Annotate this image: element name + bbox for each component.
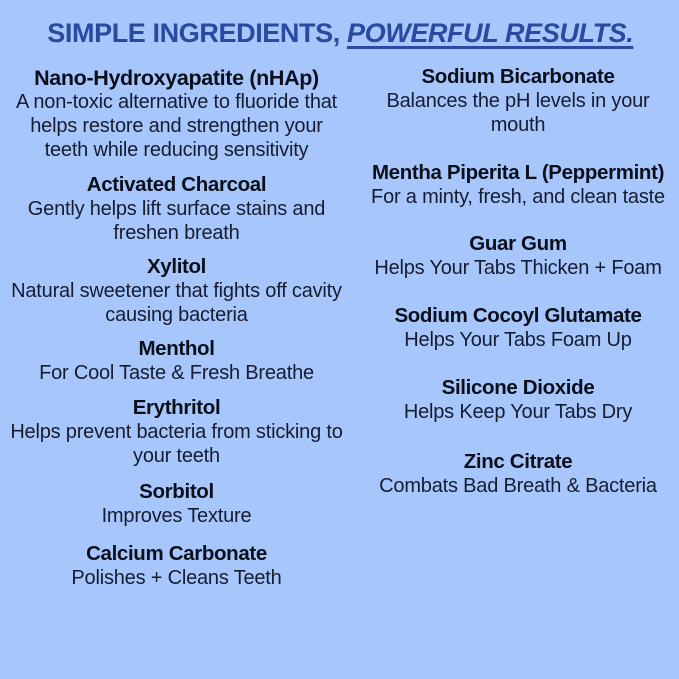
ingredient-item: Silicone Dioxide Helps Keep Your Tabs Dr… — [363, 377, 673, 425]
ingredient-description: Improves Texture — [6, 505, 347, 529]
ingredient-description: For Cool Taste & Fresh Breathe — [6, 362, 347, 386]
ingredient-description: Polishes + Cleans Teeth — [6, 567, 347, 591]
ingredient-item: Menthol For Cool Taste & Fresh Breathe — [6, 338, 347, 386]
ingredient-item: Sorbitol Improves Texture — [6, 481, 347, 529]
page-title-emphasis: POWERFUL RESULTS. — [347, 18, 633, 48]
ingredients-column-right: Sodium Bicarbonate Balances the pH level… — [355, 66, 679, 679]
ingredients-columns: Nano-Hydroxyapatite (nHAp) A non-toxic a… — [0, 66, 679, 679]
page-title-plain: SIMPLE INGREDIENTS, — [47, 18, 347, 48]
ingredient-description: Helps prevent bacteria from sticking to … — [6, 421, 347, 469]
ingredient-item: Zinc Citrate Combats Bad Breath & Bacter… — [363, 451, 673, 499]
ingredients-column-left: Nano-Hydroxyapatite (nHAp) A non-toxic a… — [0, 66, 355, 679]
ingredient-description: Combats Bad Breath & Bacteria — [363, 475, 673, 499]
ingredient-name: Sorbitol — [6, 481, 347, 504]
ingredient-description: Balances the pH levels in your mouth — [363, 90, 673, 138]
ingredient-item: Mentha Piperita L (Peppermint) For a min… — [363, 162, 673, 210]
ingredient-name: Xylitol — [6, 256, 347, 279]
ingredient-item: Xylitol Natural sweetener that fights of… — [6, 256, 347, 328]
ingredient-description: Helps Your Tabs Foam Up — [363, 329, 673, 353]
ingredient-name: Calcium Carbonate — [6, 543, 347, 566]
ingredient-name: Mentha Piperita L (Peppermint) — [363, 162, 673, 185]
ingredient-name: Zinc Citrate — [363, 451, 673, 474]
ingredient-name: Erythritol — [6, 397, 347, 420]
ingredient-item: Activated Charcoal Gently helps lift sur… — [6, 174, 347, 246]
ingredient-item: Sodium Bicarbonate Balances the pH level… — [363, 66, 673, 138]
ingredient-description: Helps Your Tabs Thicken + Foam — [363, 257, 673, 281]
ingredient-name: Nano-Hydroxyapatite (nHAp) — [6, 66, 347, 90]
ingredient-item: Guar Gum Helps Your Tabs Thicken + Foam — [363, 233, 673, 281]
ingredient-description: Natural sweetener that fights off cavity… — [6, 280, 347, 328]
ingredient-name: Sodium Bicarbonate — [363, 66, 673, 89]
ingredient-name: Sodium Cocoyl Glutamate — [363, 305, 673, 328]
page-title: SIMPLE INGREDIENTS, POWERFUL RESULTS. — [47, 20, 633, 47]
ingredient-description: A non-toxic alternative to fluoride that… — [6, 91, 347, 162]
ingredients-infographic: SIMPLE INGREDIENTS, POWERFUL RESULTS. Na… — [0, 0, 679, 679]
ingredient-description: Helps Keep Your Tabs Dry — [363, 401, 673, 425]
ingredient-description: Gently helps lift surface stains and fre… — [6, 198, 347, 246]
ingredient-item: Erythritol Helps prevent bacteria from s… — [6, 397, 347, 469]
ingredient-item: Calcium Carbonate Polishes + Cleans Teet… — [6, 543, 347, 591]
ingredient-name: Activated Charcoal — [6, 174, 347, 197]
ingredient-description: For a minty, fresh, and clean taste — [363, 186, 673, 210]
ingredient-item: Sodium Cocoyl Glutamate Helps Your Tabs … — [363, 305, 673, 353]
ingredient-name: Menthol — [6, 338, 347, 361]
ingredient-name: Guar Gum — [363, 233, 673, 256]
header-banner: SIMPLE INGREDIENTS, POWERFUL RESULTS. — [0, 0, 679, 66]
ingredient-item: Nano-Hydroxyapatite (nHAp) A non-toxic a… — [6, 66, 347, 162]
ingredient-name: Silicone Dioxide — [363, 377, 673, 400]
